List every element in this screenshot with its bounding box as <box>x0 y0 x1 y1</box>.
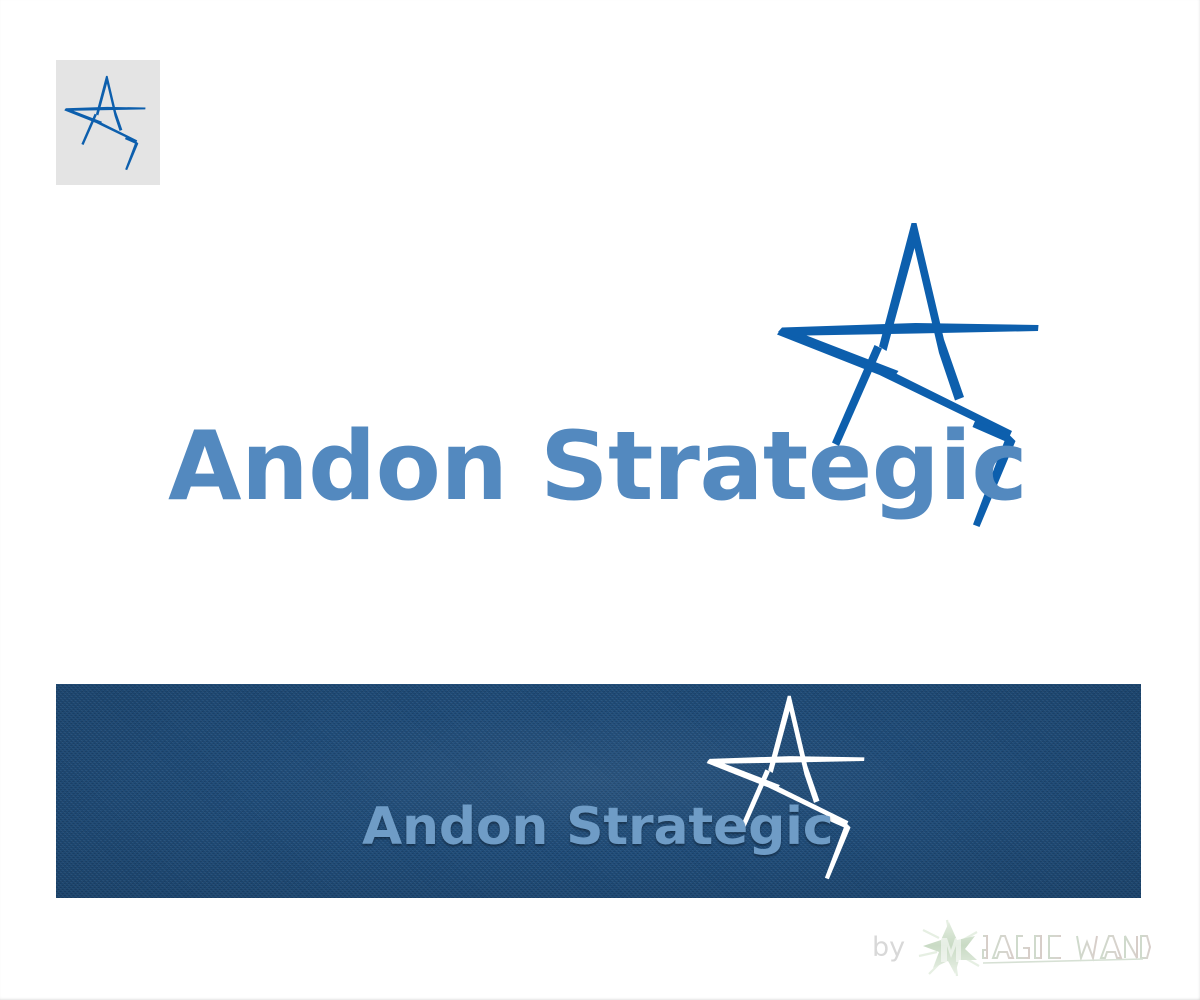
primary-logo-lockup: Andon Strategic <box>0 215 1200 545</box>
logo-thumbnail <box>56 60 160 185</box>
star-a-monogram-icon <box>64 68 154 178</box>
logo-presentation-page: Andon Strategic Andon Strategic by <box>0 0 1200 1000</box>
magic-wand-logo <box>917 916 1147 978</box>
magic-wand-sparkle-star-icon <box>917 916 1147 978</box>
banner-vignette <box>56 684 1141 898</box>
banner-fabric-texture <box>56 684 1141 898</box>
designer-credit: by <box>872 916 1147 978</box>
brand-banner: Andon Strategic <box>56 684 1141 898</box>
primary-wordmark: Andon Strategic <box>168 420 1027 515</box>
credit-prefix: by <box>872 934 905 961</box>
banner-wordmark: Andon Strategic <box>362 801 833 853</box>
